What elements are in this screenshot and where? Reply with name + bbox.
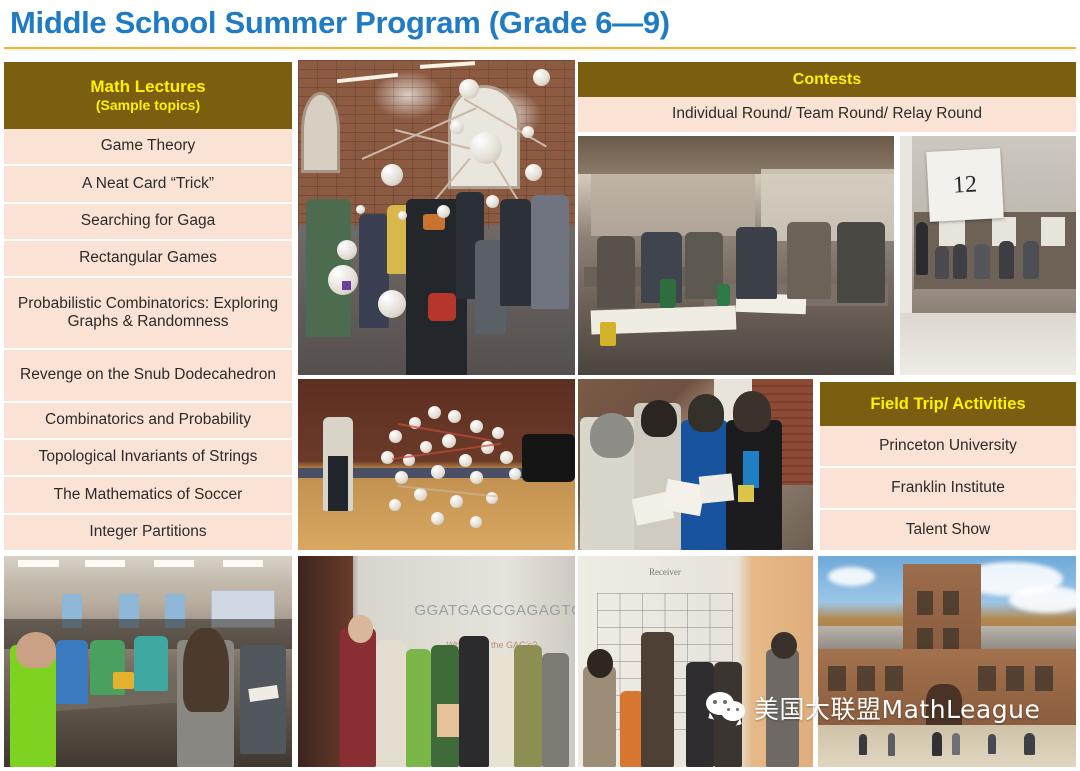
backpack bbox=[660, 279, 676, 308]
model-ball bbox=[459, 79, 479, 99]
model-ball bbox=[414, 488, 427, 501]
glass-partition bbox=[591, 174, 755, 236]
student-figure bbox=[406, 649, 431, 767]
backpack bbox=[717, 284, 730, 306]
list-item[interactable]: Talent Show bbox=[820, 510, 1076, 550]
photo-ball-and-stick-model bbox=[298, 60, 575, 375]
pedestrian bbox=[952, 733, 960, 755]
pedestrian bbox=[1024, 733, 1034, 755]
model-ball bbox=[470, 132, 502, 164]
student-figure bbox=[56, 640, 88, 703]
room-window bbox=[1041, 217, 1066, 246]
title-divider bbox=[4, 47, 1076, 51]
facade-window bbox=[1035, 666, 1053, 692]
tower-window bbox=[943, 591, 958, 615]
student-figure bbox=[641, 632, 674, 767]
math-lectures-header: Math Lectures (Sample topics) bbox=[4, 62, 292, 129]
student-figure bbox=[787, 222, 831, 298]
model-ball bbox=[389, 430, 402, 443]
facade-window bbox=[1006, 666, 1024, 692]
student-head bbox=[771, 632, 797, 659]
model-ball bbox=[395, 471, 408, 484]
photo-contest-hall-image bbox=[578, 136, 894, 375]
student-figure bbox=[376, 640, 406, 767]
photo-contest-room-window-image: 12 bbox=[900, 136, 1076, 375]
photo-receiver-matrix-image: Receiver bbox=[578, 556, 813, 767]
model-ball bbox=[450, 495, 463, 508]
contests-title: Contests bbox=[793, 70, 861, 90]
field-trip-rows: Princeton University Franklin Institute … bbox=[820, 426, 1076, 550]
math-lectures-table: Math Lectures (Sample topics) Game Theor… bbox=[4, 62, 292, 550]
list-item[interactable]: Princeton University bbox=[820, 426, 1076, 468]
student-figure bbox=[514, 645, 542, 767]
student-hair bbox=[183, 628, 229, 712]
student-figure bbox=[597, 236, 635, 308]
model-ball bbox=[378, 290, 406, 318]
waist-pack bbox=[428, 293, 456, 321]
list-item[interactable]: Rectangular Games bbox=[4, 241, 292, 278]
contests-table: Contests Individual Round/ Team Round/ R… bbox=[578, 62, 1076, 132]
photo-dodecahedron-sculpture-image bbox=[298, 379, 575, 550]
model-ball bbox=[356, 205, 365, 214]
model-ball bbox=[428, 406, 441, 419]
name-badge bbox=[738, 485, 754, 502]
model-ball bbox=[509, 468, 521, 480]
list-item[interactable]: Game Theory bbox=[4, 129, 292, 166]
facade-window bbox=[857, 666, 875, 692]
ceiling-light bbox=[85, 560, 125, 566]
math-lectures-title: Math Lectures bbox=[90, 76, 205, 97]
list-item[interactable]: Probabilistic Combinatorics: Exploring G… bbox=[4, 278, 292, 349]
photo-lecture-hall bbox=[4, 556, 292, 767]
photo-grading-papers-image bbox=[578, 379, 813, 550]
page-title: Middle School Summer Program (Grade 6—9) bbox=[10, 2, 670, 44]
arched-window bbox=[301, 92, 340, 174]
presenter-figure bbox=[340, 628, 376, 767]
cloud bbox=[1009, 586, 1076, 613]
student-figure bbox=[953, 244, 967, 280]
photo-princeton-campus-image bbox=[818, 556, 1076, 767]
photo-receiver-matrix: Receiver bbox=[578, 556, 813, 767]
student-figure bbox=[620, 691, 644, 767]
model-ball bbox=[437, 205, 450, 218]
ceiling-light bbox=[18, 560, 58, 566]
student-figure bbox=[935, 246, 949, 279]
model-ball bbox=[448, 410, 461, 423]
model-ball bbox=[381, 164, 403, 186]
entrance-arch bbox=[926, 684, 962, 725]
bag bbox=[600, 322, 616, 346]
photo-ball-and-stick-model-image bbox=[298, 60, 575, 375]
contests-header: Contests bbox=[578, 62, 1076, 97]
photo-contest-hall bbox=[578, 136, 894, 375]
student-head bbox=[733, 391, 771, 432]
photo-contest-room-window: 12 bbox=[900, 136, 1076, 375]
math-lectures-subtitle: (Sample topics) bbox=[96, 97, 200, 115]
list-item[interactable]: Revenge on the Snub Dodecahedron bbox=[4, 350, 292, 403]
math-lectures-rows: Game Theory A Neat Card “Trick” Searchin… bbox=[4, 129, 292, 550]
model-ball bbox=[470, 471, 483, 484]
list-item[interactable]: The Mathematics of Soccer bbox=[4, 477, 292, 514]
student-figure bbox=[1023, 241, 1039, 279]
facade-window bbox=[885, 666, 903, 692]
student-figure bbox=[459, 636, 489, 767]
model-ball bbox=[431, 512, 444, 525]
model-ball-marker bbox=[342, 281, 351, 290]
facade-window bbox=[828, 666, 846, 692]
student-figure bbox=[714, 662, 742, 768]
pedestrian bbox=[988, 734, 996, 754]
model-ball bbox=[398, 211, 407, 220]
student-figure bbox=[766, 649, 799, 767]
model-ball bbox=[459, 454, 472, 467]
plaza bbox=[818, 725, 1076, 767]
matrix-title: Receiver bbox=[587, 567, 742, 577]
photo-dna-presentation-image: GGATGAGCGAGAGTC Where are the GAG's? bbox=[298, 556, 575, 767]
pedestrian bbox=[859, 734, 867, 755]
model-ball bbox=[442, 434, 456, 448]
list-item[interactable]: A Neat Card “Trick” bbox=[4, 166, 292, 203]
lanyard bbox=[743, 451, 759, 489]
folder bbox=[437, 704, 459, 738]
model-ball bbox=[525, 164, 542, 181]
photo-dna-presentation: GGATGAGCGAGAGTC Where are the GAG's? bbox=[298, 556, 575, 767]
student-figure bbox=[134, 636, 169, 691]
answer-sheet bbox=[699, 473, 735, 504]
teacher-head bbox=[590, 413, 635, 457]
list-item[interactable]: Combinatorics and Probability bbox=[4, 403, 292, 440]
student-figure bbox=[686, 662, 714, 768]
model-ball bbox=[470, 516, 482, 528]
model-ball bbox=[337, 240, 357, 260]
field-trip-table: Field Trip/ Activities Princeton Univers… bbox=[820, 382, 1076, 550]
presenter-head bbox=[348, 615, 373, 642]
instructor-legs bbox=[328, 456, 347, 511]
model-ball bbox=[431, 465, 445, 479]
student-figure bbox=[837, 222, 884, 303]
tower-window bbox=[917, 591, 932, 615]
list-item[interactable]: Topological Invariants of Strings bbox=[4, 440, 292, 477]
photo-grading-papers bbox=[578, 379, 813, 550]
list-item[interactable]: Individual Round/ Team Round/ Relay Roun… bbox=[578, 97, 1076, 132]
ceiling-light bbox=[223, 560, 263, 566]
model-ball bbox=[500, 451, 513, 464]
slide-canvas: Middle School Summer Program (Grade 6—9)… bbox=[0, 0, 1080, 771]
student-head bbox=[16, 632, 56, 668]
window-sill bbox=[900, 313, 1076, 375]
object-on-table bbox=[113, 672, 133, 689]
list-item[interactable]: Integer Partitions bbox=[4, 515, 292, 550]
student-figure bbox=[736, 227, 777, 299]
student-figure bbox=[542, 653, 570, 767]
model-ball bbox=[389, 499, 401, 511]
photo-dodecahedron-sculpture bbox=[298, 379, 575, 550]
proctor-figure bbox=[916, 222, 928, 275]
student-figure bbox=[583, 666, 616, 767]
model-ball bbox=[492, 427, 504, 439]
facade-window bbox=[978, 666, 996, 692]
slide-sequence-text: GGATGAGCGAGAGTC bbox=[414, 602, 569, 619]
list-item[interactable]: Franklin Institute bbox=[820, 468, 1076, 510]
field-trip-title: Field Trip/ Activities bbox=[870, 394, 1025, 415]
model-ball bbox=[470, 420, 483, 433]
student-figure bbox=[974, 244, 990, 280]
building-facade bbox=[818, 649, 1076, 725]
student-figure bbox=[500, 199, 530, 306]
model-ball bbox=[420, 441, 432, 453]
room-window bbox=[939, 217, 965, 246]
cloud bbox=[828, 567, 874, 586]
field-trip-header: Field Trip/ Activities bbox=[820, 382, 1076, 426]
student-figure bbox=[999, 241, 1015, 279]
student-figure bbox=[531, 195, 570, 308]
list-item[interactable]: Searching for Gaga bbox=[4, 204, 292, 241]
photo-lecture-hall-image bbox=[4, 556, 292, 767]
piano bbox=[522, 434, 575, 482]
student-head bbox=[641, 400, 676, 438]
student-head bbox=[688, 394, 723, 432]
ceiling-light bbox=[154, 560, 194, 566]
photo-princeton-campus bbox=[818, 556, 1076, 767]
room-number-sign: 12 bbox=[926, 148, 1004, 222]
pedestrian bbox=[888, 733, 896, 756]
model-rod bbox=[398, 485, 498, 497]
pedestrian bbox=[932, 732, 942, 756]
